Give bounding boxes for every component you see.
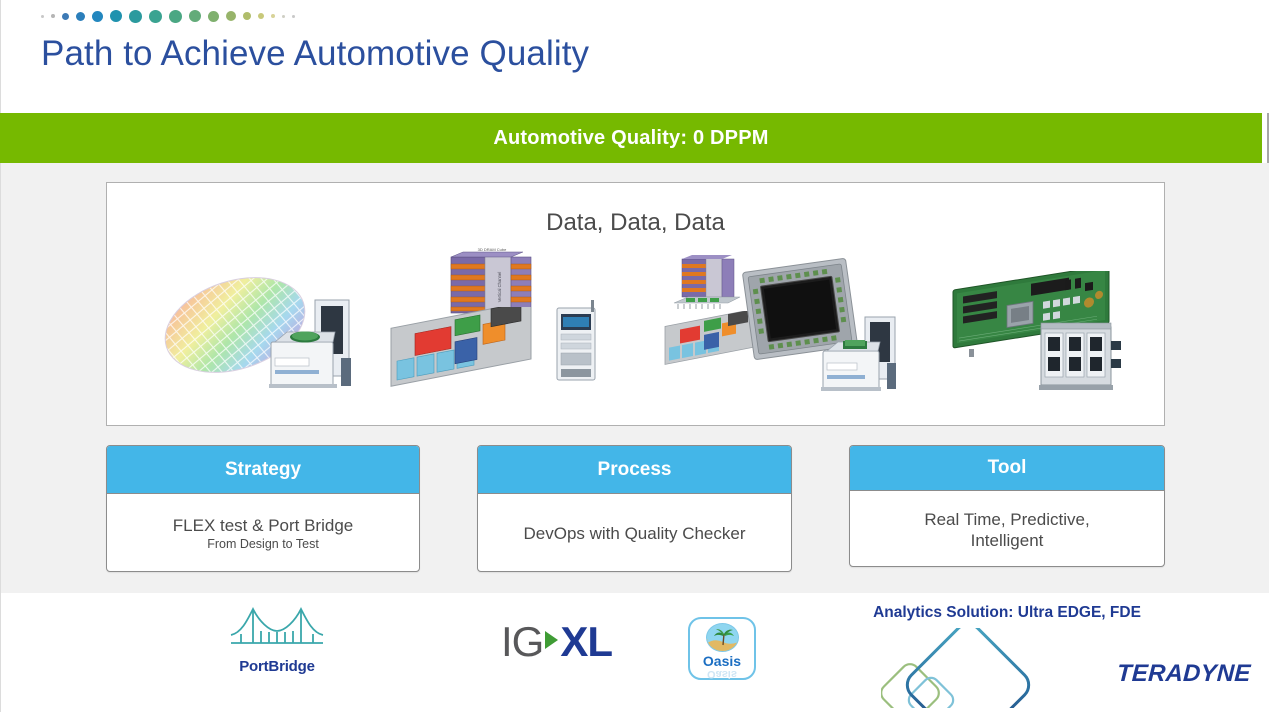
decorative-dot-1 <box>51 14 55 18</box>
svg-text:3D DRAM Cube: 3D DRAM Cube <box>478 247 507 252</box>
stage-system-test <box>947 271 1147 396</box>
oasis-logo[interactable]: Oasis Oasis <box>688 617 756 680</box>
card-strategy-main: FLEX test & Port Bridge <box>173 515 353 536</box>
decorative-dot-6 <box>129 10 142 23</box>
pillar-cards: Strategy FLEX test & Port Bridge From De… <box>1 445 1269 580</box>
card-tool-body: Real Time, Predictive, Intelligent <box>850 491 1164 567</box>
data-panel-title: Data, Data, Data <box>107 209 1164 237</box>
slide: Path to Achieve Automotive Quality Autom… <box>0 0 1269 712</box>
decorative-dot-15 <box>282 15 285 18</box>
bridge-icon <box>227 605 327 651</box>
card-strategy[interactable]: Strategy FLEX test & Port Bridge From De… <box>106 445 420 572</box>
stage-package-test <box>662 253 912 403</box>
quality-banner-text: Automotive Quality: 0 DPPM <box>493 127 768 150</box>
stage-design-data: 3D DRAM Cube Vertical Channe <box>387 245 637 400</box>
slide-header: Path to Achieve Automotive Quality <box>0 0 1269 113</box>
igxl-xl-text: XL <box>560 618 612 666</box>
decorative-dot-13 <box>258 13 264 19</box>
portbridge-label: PortBridge <box>221 658 333 675</box>
decorative-dot-3 <box>76 12 85 21</box>
card-process[interactable]: Process DevOps with Quality Checker <box>477 445 792 572</box>
portbridge-logo[interactable]: PortBridge <box>221 605 333 675</box>
test-flow-illustrations: 3D DRAM Cube Vertical Channe <box>107 253 1166 423</box>
soc-floorplan-icon <box>387 307 537 392</box>
decorative-dot-16 <box>292 15 295 18</box>
tester-machine-icon <box>547 300 607 385</box>
page-title: Path to Achieve Automotive Quality <box>41 34 589 74</box>
decorative-dot-12 <box>243 12 251 20</box>
slide-footer: PortBridge IG XL Analytics Solution: Ult… <box>0 593 1269 712</box>
decorative-dot-7 <box>149 10 162 23</box>
decorative-dot-8 <box>169 10 182 23</box>
card-tool[interactable]: Tool Real Time, Predictive, Intelligent <box>849 445 1165 567</box>
decorative-dot-9 <box>189 10 201 22</box>
decorative-dot-11 <box>226 11 236 21</box>
decorative-dot-5 <box>110 10 122 22</box>
card-tool-header: Tool <box>850 446 1164 491</box>
card-strategy-sub: From Design to Test <box>207 536 319 553</box>
analytics-solution-label: Analytics Solution: Ultra EDGE, FDE <box>861 601 1153 624</box>
memory-stack-on-board-icon <box>670 253 750 315</box>
palm-tree-icon <box>706 623 739 652</box>
decorative-dot-strip <box>41 6 331 26</box>
green-triangle-icon <box>545 631 558 649</box>
device-handler-icon <box>817 315 907 395</box>
card-tool-main: Real Time, Predictive, Intelligent <box>897 509 1117 551</box>
card-strategy-header: Strategy <box>107 446 419 494</box>
system-level-tester-icon <box>1035 319 1125 394</box>
content-area: Data, Data, Data <box>0 163 1269 593</box>
teradyne-wordmark: TERADYNE <box>1116 660 1251 688</box>
decorative-dot-2 <box>62 13 69 20</box>
oasis-reflection-label: Oasis <box>707 669 737 678</box>
decorative-dot-10 <box>208 11 219 22</box>
svg-text:Vertical Channel: Vertical Channel <box>497 272 502 303</box>
wafer-prober-icon <box>265 298 360 393</box>
card-process-header: Process <box>478 446 791 494</box>
decorative-dot-14 <box>271 14 275 18</box>
igxl-ig-text: IG <box>501 618 543 666</box>
data-panel: Data, Data, Data <box>106 182 1165 426</box>
quality-banner: Automotive Quality: 0 DPPM <box>0 113 1262 163</box>
oasis-label: Oasis <box>703 653 741 669</box>
decorative-dot-4 <box>92 11 103 22</box>
card-process-main: DevOps with Quality Checker <box>523 523 745 544</box>
stage-wafer-test <box>157 263 367 393</box>
card-strategy-body: FLEX test & Port Bridge From Design to T… <box>107 494 419 572</box>
teradyne-diamond-mark-icon <box>881 628 1111 708</box>
card-process-body: DevOps with Quality Checker <box>478 494 791 572</box>
decorative-dot-0 <box>41 15 44 18</box>
igxl-logo[interactable]: IG XL <box>501 618 612 666</box>
